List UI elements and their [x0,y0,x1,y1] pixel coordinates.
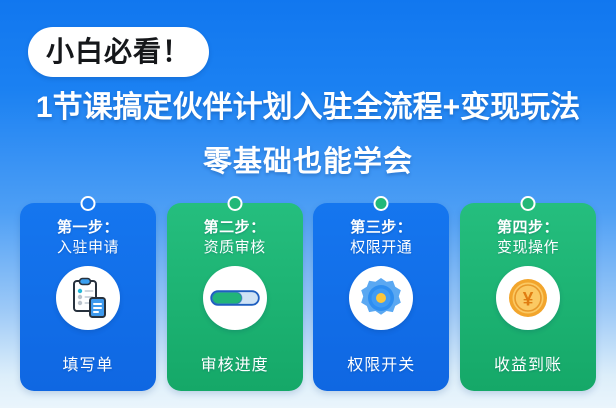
step-card-3[interactable]: 第三步： 权限开通 权限开关 [313,203,449,391]
step-card-4-name: 变现操作 [497,239,559,256]
step-card-1-icon-circle [56,266,120,330]
step-card-2-name: 资质审核 [204,239,266,256]
step-card-1-name: 入驻申请 [57,239,119,256]
step-card-4-icon-circle: ¥ [496,266,560,330]
step-card-3-icon-circle [349,266,413,330]
step-marker-dot-icon [81,196,96,211]
highlight-badge-label: 小白必看！ [46,38,191,66]
step-card-4[interactable]: 第四步： 变现操作 ¥ 收益到账 [460,203,596,391]
step-card-3-label: 权限开关 [313,351,449,375]
step-marker-dot-icon [374,196,389,211]
step-card-1-title: 第一步： [57,219,119,236]
step-card-3-title: 第三步： [350,219,412,236]
step-card-2-icon-circle [203,266,267,330]
subheadline-text: 零基础也能学会 [0,144,616,182]
clipboard-form-icon [66,276,110,320]
step-card-2[interactable]: 第二步： 资质审核 审核进度 [167,203,303,391]
step-card-list: 第一步： 入驻申请 填写单 [20,203,596,393]
gear-settings-icon [358,275,404,321]
step-marker-dot-icon [227,196,242,211]
step-card-4-label: 收益到账 [460,351,596,375]
step-card-1-label: 填写单 [20,351,156,375]
highlight-badge: 小白必看！ [28,27,209,77]
step-card-3-name: 权限开通 [350,239,412,256]
step-card-1[interactable]: 第一步： 入驻申请 填写单 [20,203,156,391]
progress-bar-icon [210,288,260,308]
yuan-coin-icon: ¥ [507,277,549,319]
step-marker-dot-icon [520,196,535,211]
svg-text:¥: ¥ [523,289,534,310]
step-card-2-label: 审核进度 [167,351,303,375]
step-card-2-title: 第二步： [204,219,266,236]
step-card-4-title: 第四步： [497,219,559,236]
promo-poster: 小白必看！ 1节课搞定伙伴计划入驻全流程+变现玩法 零基础也能学会 第一步： 入… [0,0,616,408]
headline-text: 1节课搞定伙伴计划入驻全流程+变现玩法 [0,88,616,127]
